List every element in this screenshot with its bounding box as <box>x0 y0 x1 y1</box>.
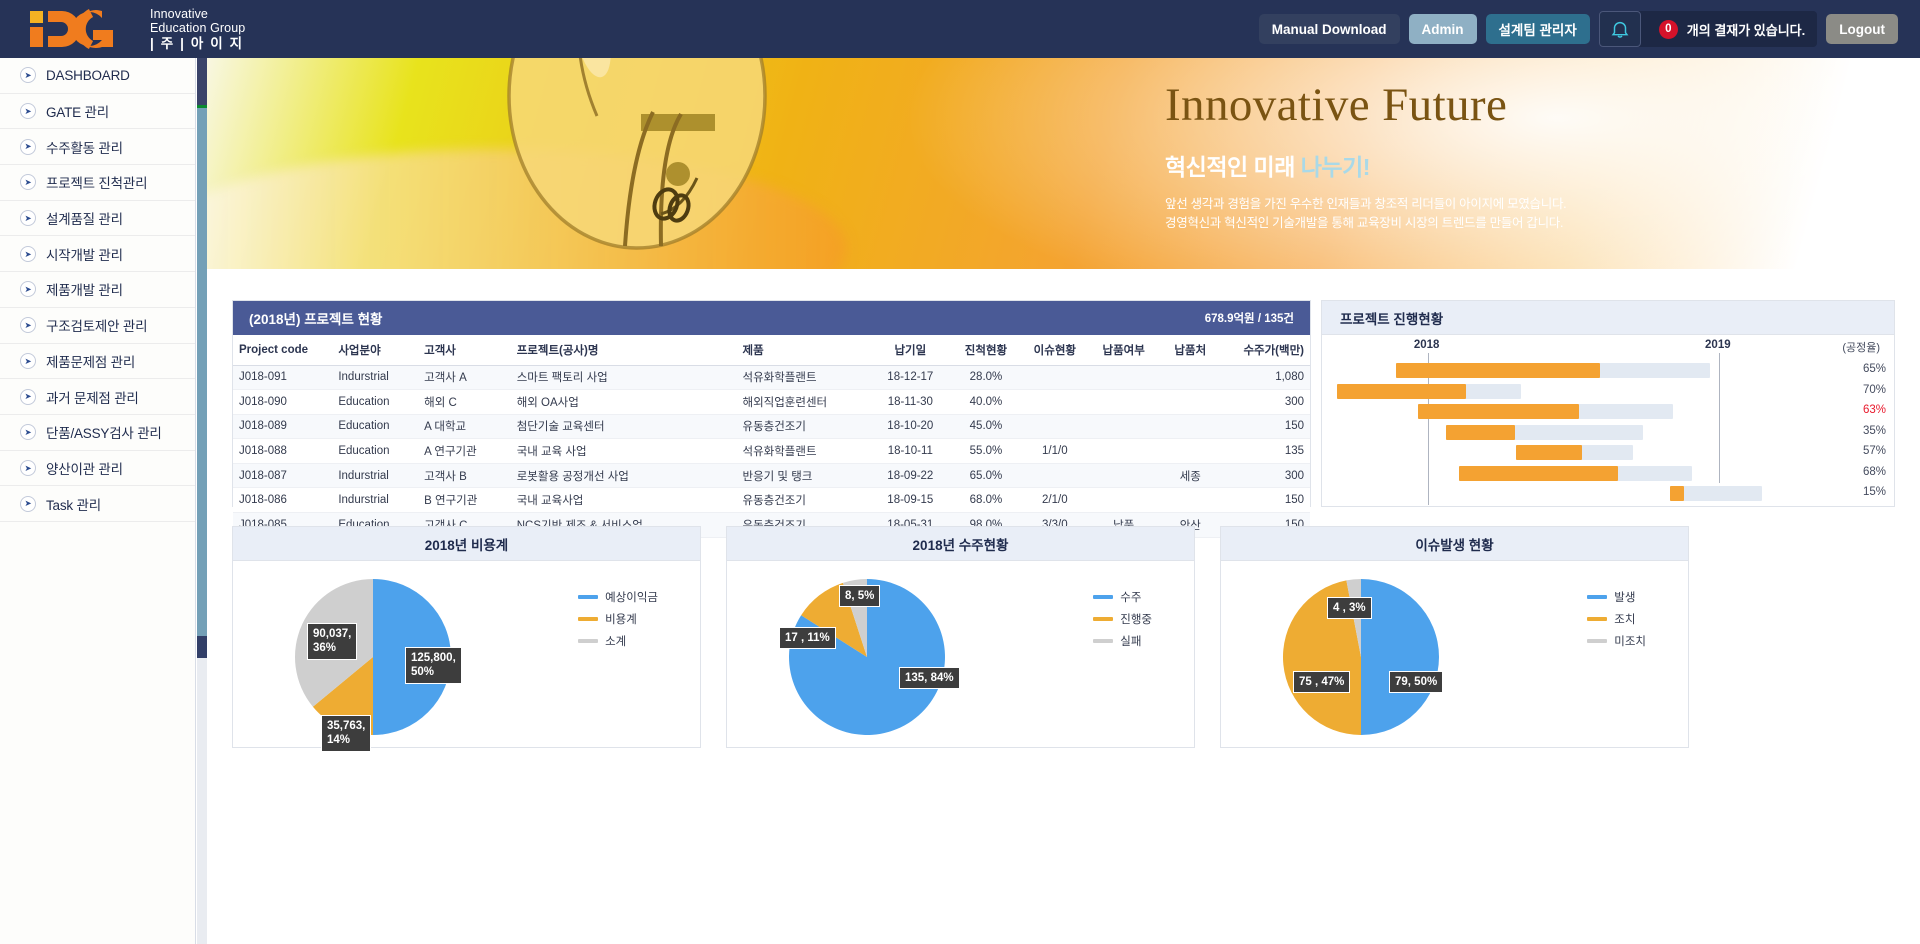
sidebar-item-label: 단품/ASSY검사 관리 <box>46 422 162 442</box>
gantt-panel-header: 프로젝트 진행현황 <box>1322 301 1894 335</box>
cell-issue <box>1021 365 1089 390</box>
legend-color-swatch <box>1587 617 1607 621</box>
gantt-row-fill <box>1446 425 1515 440</box>
project-column-header: 진척현황 <box>951 335 1021 365</box>
cell-issue <box>1021 390 1089 415</box>
gantt-row-track <box>1396 363 1710 378</box>
legend-color-swatch <box>578 595 598 599</box>
sidebar-item-label: 제품개발 관리 <box>46 279 123 299</box>
chevron-right-icon: ➤ <box>20 353 36 369</box>
gantt-row-percent: 68% <box>1840 466 1886 478</box>
cell-field: Education <box>332 414 418 439</box>
legend-color-swatch <box>1093 639 1113 643</box>
cell-progress: 68.0% <box>951 488 1021 513</box>
gantt-row-track <box>1516 445 1632 460</box>
sidebar-item-5[interactable]: ➤설계품질 관리 <box>0 201 195 237</box>
chevron-right-icon: ➤ <box>20 174 36 190</box>
cell-product: 반응기 및 탱크 <box>736 463 869 488</box>
cell-dest <box>1159 390 1222 415</box>
cell-due: 18-10-11 <box>870 439 951 464</box>
chevron-right-icon: ➤ <box>20 103 36 119</box>
gantt-axis-label-right: 2019 <box>1705 339 1731 351</box>
issues-pie-panel: 이슈발생 현황 79, 50%75 , 47%4 , 3%발생조치미조치 <box>1220 526 1689 748</box>
cell-delivered <box>1089 365 1159 390</box>
chevron-right-icon: ➤ <box>20 460 36 476</box>
cell-progress: 40.0% <box>951 390 1021 415</box>
chevron-right-icon: ➤ <box>20 246 36 262</box>
legend-color-swatch <box>1093 595 1113 599</box>
top-bar: Innovative Education Group | 주 | 아 이 지 M… <box>0 0 1920 58</box>
pie-legend: 발생조치미조치 <box>1587 589 1646 649</box>
sidebar-item-label: 프로젝트 진척관리 <box>46 172 147 192</box>
cell-dest <box>1159 414 1222 439</box>
cell-client: A 대학교 <box>418 414 511 439</box>
cell-price: 135 <box>1222 439 1310 464</box>
cell-product: 석유화학플랜트 <box>736 365 869 390</box>
cell-delivered <box>1089 488 1159 513</box>
gantt-axis-label-left: 2018 <box>1414 339 1440 351</box>
table-row[interactable]: J018-087Indurstrial고객사 B로봇활용 공정개선 사업반응기 … <box>233 463 1310 488</box>
sidebar-item-label: 시작개발 관리 <box>46 244 123 264</box>
chevron-right-icon: ➤ <box>20 424 36 440</box>
main-content: Innovative Future 혁신적인 미래 나누기! 앞선 생각과 경험… <box>207 58 1920 944</box>
banner-subheadline: 혁신적인 미래 나누기! <box>1165 148 1885 182</box>
project-panel-summary: 678.9억원 / 135건 <box>1205 310 1294 326</box>
sidebar-scrollbar[interactable] <box>197 58 207 944</box>
gantt-row-percent: 63% <box>1840 404 1886 416</box>
gantt-row-track <box>1446 425 1643 440</box>
chevron-right-icon: ➤ <box>20 281 36 297</box>
banner-body: 앞선 생각과 경험을 가진 우수한 인재들과 창조적 리더들이 아이지에 모였습… <box>1165 195 1885 234</box>
manual-download-button[interactable]: Manual Download <box>1259 14 1400 44</box>
pie-legend: 수주진행중실패 <box>1093 589 1152 649</box>
project-column-header: 납품처 <box>1159 335 1222 365</box>
sidebar-item-label: 양산이관 관리 <box>46 458 123 478</box>
gantt-row-fill <box>1337 384 1466 399</box>
cell-price: 1,080 <box>1222 365 1310 390</box>
chevron-right-icon: ➤ <box>20 139 36 155</box>
orders-pie-body: 135, 84%17 , 11%8, 5%수주진행중실패 <box>727 561 1194 748</box>
chevron-right-icon: ➤ <box>20 210 36 226</box>
banner-body-line-2: 경영혁신과 혁신적인 기술개발을 통해 교육장비 시장의 트렌드를 만들어 갑니… <box>1165 214 1885 233</box>
table-row[interactable]: J018-091Indurstrial고객사 A스마트 팩토리 사업석유화학플랜… <box>233 365 1310 390</box>
cell-due: 18-11-30 <box>870 390 951 415</box>
gantt-row-fill <box>1459 466 1617 481</box>
table-row[interactable]: J018-086IndurstrialB 연구기관국내 교육사업유동층건조기18… <box>233 488 1310 513</box>
legend-item[interactable]: 실패 <box>1093 633 1152 649</box>
gantt-row-percent: 70% <box>1840 384 1886 396</box>
cell-issue <box>1021 463 1089 488</box>
cell-client: 해외 C <box>418 390 511 415</box>
sidebar-item-label: 수주활동 관리 <box>46 137 123 157</box>
gantt-row-percent: 65% <box>1840 363 1886 375</box>
cell-name: 스마트 팩토리 사업 <box>511 365 737 390</box>
cell-price: 300 <box>1222 390 1310 415</box>
cell-field: Indurstrial <box>332 463 418 488</box>
notification-area: 0 개의 결재가 있습니다. <box>1599 11 1817 47</box>
sidebar-item-4[interactable]: ➤프로젝트 진척관리 <box>0 165 195 201</box>
project-panel-header: (2018년) 프로젝트 현황 678.9억원 / 135건 <box>233 301 1310 335</box>
notification-text: 개의 결재가 있습니다. <box>1687 20 1805 39</box>
sidebar-item-label: 설계품질 관리 <box>46 208 123 228</box>
legend-label: 실패 <box>1120 633 1141 649</box>
project-panel-title: (2018년) 프로젝트 현황 <box>249 308 382 328</box>
cell-field: Indurstrial <box>332 488 418 513</box>
legend-item[interactable]: 비용계 <box>578 611 658 627</box>
notification-count-badge: 0 <box>1659 20 1678 39</box>
cell-product: 유동층건조기 <box>736 414 869 439</box>
gantt-row[interactable]: 57% <box>1322 445 1894 460</box>
pie-data-label: 35,763, 14% <box>321 715 371 752</box>
legend-label: 조치 <box>1614 611 1635 627</box>
project-column-header: 수주가(백만) <box>1222 335 1310 365</box>
chevron-right-icon: ➤ <box>20 67 36 83</box>
cell-code: J018-090 <box>233 390 332 415</box>
cell-price: 150 <box>1222 414 1310 439</box>
banner-sub-accent: 나누기! <box>1301 154 1370 180</box>
cell-due: 18-09-22 <box>870 463 951 488</box>
legend-label: 발생 <box>1614 589 1635 605</box>
cell-field: Indurstrial <box>332 365 418 390</box>
hero-banner: Innovative Future 혁신적인 미래 나누기! 앞선 생각과 경험… <box>207 58 1920 269</box>
pie-data-label: 17 , 11% <box>779 627 836 649</box>
issues-pie-body: 79, 50%75 , 47%4 , 3%발생조치미조치 <box>1221 561 1688 748</box>
admin-button[interactable]: Admin <box>1409 14 1477 44</box>
cell-due: 18-12-17 <box>870 365 951 390</box>
brand-logo[interactable]: Innovative Education Group | 주 | 아 이 지 <box>28 7 245 51</box>
cell-client: 고객사 B <box>418 463 511 488</box>
legend-item[interactable]: 조치 <box>1587 611 1646 627</box>
sidebar-item-8[interactable]: ➤구조검토제안 관리 <box>0 308 195 344</box>
scrollbar-segment-top <box>197 58 207 105</box>
cell-name: 로봇활용 공정개선 사업 <box>511 463 737 488</box>
cell-due: 18-09-15 <box>870 488 951 513</box>
banner-headline: Innovative Future <box>1165 80 1885 132</box>
cell-code: J018-086 <box>233 488 332 513</box>
chevron-right-icon: ➤ <box>20 317 36 333</box>
gantt-row[interactable]: 15% <box>1322 486 1894 501</box>
gantt-row-fill <box>1516 445 1582 460</box>
idg-logo-icon <box>28 9 140 49</box>
legend-color-swatch <box>578 617 598 621</box>
logout-button[interactable]: Logout <box>1826 14 1898 44</box>
legend-color-swatch <box>1587 639 1607 643</box>
gantt-row[interactable]: 70% <box>1322 384 1894 399</box>
cell-progress: 55.0% <box>951 439 1021 464</box>
cell-price: 150 <box>1222 488 1310 513</box>
pie-data-label: 4 , 3% <box>1327 597 1372 619</box>
cell-name: 국내 교육 사업 <box>511 439 737 464</box>
top-bar-actions: Manual Download Admin 설계팀 관리자 0 개의 결재가 있… <box>1259 11 1898 47</box>
cell-product: 해외직업훈련센터 <box>736 390 869 415</box>
legend-label: 수주 <box>1120 589 1141 605</box>
cell-dest <box>1159 488 1222 513</box>
orders-pie-title: 2018년 수주현황 <box>727 527 1194 561</box>
pie-data-label: 135, 84% <box>899 667 960 689</box>
gantt-axis-label-rate: (공정율) <box>1842 339 1880 355</box>
orders-pie-panel: 2018년 수주현황 135, 84%17 , 11%8, 5%수주진행중실패 <box>726 526 1195 748</box>
cell-delivered <box>1089 439 1159 464</box>
pie-data-label: 8, 5% <box>839 585 880 607</box>
sidebar-item-label: Task 관리 <box>46 494 101 514</box>
project-column-header: 고객사 <box>418 335 511 365</box>
cell-delivered <box>1089 390 1159 415</box>
gantt-row[interactable]: 63% <box>1322 404 1894 419</box>
sidebar-item-10[interactable]: ➤과거 문제점 관리 <box>0 379 195 415</box>
project-column-header: 프로젝트(공사)명 <box>511 335 737 365</box>
legend-label: 미조치 <box>1614 633 1646 649</box>
design-team-admin-button[interactable]: 설계팀 관리자 <box>1486 14 1590 44</box>
scrollbar-track[interactable] <box>197 108 207 636</box>
cell-issue: 1/1/0 <box>1021 439 1089 464</box>
table-row[interactable]: J018-090Education해외 C해외 OA사업해외직업훈련센터18-1… <box>233 390 1310 415</box>
chevron-right-icon: ➤ <box>20 496 36 512</box>
sidebar-item-13[interactable]: ➤Task 관리 <box>0 486 195 522</box>
sidebar-item-label: 제품문제점 관리 <box>46 351 135 371</box>
table-row[interactable]: J018-088EducationA 연구기관국내 교육 사업석유화학플랜트18… <box>233 439 1310 464</box>
cell-dest <box>1159 439 1222 464</box>
gantt-row-track <box>1670 486 1762 501</box>
gantt-row-fill <box>1418 404 1579 419</box>
banner-sub-white: 혁신적인 미래 <box>1165 154 1301 180</box>
cell-name: 국내 교육사업 <box>511 488 737 513</box>
sidebar-item-3[interactable]: ➤수주활동 관리 <box>0 129 195 165</box>
legend-item[interactable]: 진행중 <box>1093 611 1152 627</box>
legend-color-swatch <box>1587 595 1607 599</box>
pie-slice[interactable] <box>1361 579 1439 735</box>
sidebar-item-2[interactable]: ➤GATE 관리 <box>0 94 195 130</box>
project-column-header: 납기일 <box>870 335 951 365</box>
legend-label: 비용계 <box>605 611 637 627</box>
cell-client: 고객사 A <box>418 365 511 390</box>
legend-label: 소계 <box>605 633 626 649</box>
bell-icon[interactable] <box>1599 11 1641 47</box>
cell-client: B 연구기관 <box>418 488 511 513</box>
project-column-header: Project code <box>233 335 332 365</box>
cell-issue <box>1021 414 1089 439</box>
sidebar-item-9[interactable]: ➤제품문제점 관리 <box>0 344 195 380</box>
sidebar-item-6[interactable]: ➤시작개발 관리 <box>0 236 195 272</box>
pie-data-label: 75 , 47% <box>1293 671 1350 693</box>
gantt-row-percent: 15% <box>1840 486 1886 498</box>
sidebar-item-label: DASHBOARD <box>46 68 130 83</box>
pie-data-label: 90,037, 36% <box>307 623 357 660</box>
gantt-row[interactable]: 35% <box>1322 425 1894 440</box>
cell-issue: 2/1/0 <box>1021 488 1089 513</box>
scrollbar-thumb[interactable] <box>197 636 207 658</box>
legend-item[interactable]: 수주 <box>1093 589 1152 605</box>
project-column-header: 사업분야 <box>332 335 418 365</box>
banner-body-line-1: 앞선 생각과 경험을 가진 우수한 인재들과 창조적 리더들이 아이지에 모였습… <box>1165 195 1885 214</box>
cell-dest: 세종 <box>1159 463 1222 488</box>
pie-data-label: 125,800, 50% <box>405 647 462 684</box>
legend-item[interactable]: 예상이익금 <box>578 589 658 605</box>
gantt-row[interactable]: 65% <box>1322 363 1894 378</box>
legend-label: 진행중 <box>1120 611 1152 627</box>
legend-item[interactable]: 발생 <box>1587 589 1646 605</box>
sidebar-item-label: 과거 문제점 관리 <box>46 387 139 407</box>
cell-field: Education <box>332 390 418 415</box>
gantt-row-fill <box>1670 486 1684 501</box>
sidebar-item-12[interactable]: ➤양산이관 관리 <box>0 451 195 487</box>
cell-code: J018-089 <box>233 414 332 439</box>
cell-price: 300 <box>1222 463 1310 488</box>
lightbulb-illustration-icon <box>465 58 805 269</box>
cost-pie-panel: 2018년 비용계 125,800, 50%35,763, 14%90,037,… <box>232 526 701 748</box>
cell-code: J018-088 <box>233 439 332 464</box>
gantt-row-percent: 35% <box>1840 425 1886 437</box>
cost-pie-body: 125,800, 50%35,763, 14%90,037, 36%예상이익금비… <box>233 561 700 748</box>
gantt-axis: 20182019(공정율) <box>1322 335 1894 359</box>
cell-delivered <box>1089 414 1159 439</box>
project-status-panel: (2018년) 프로젝트 현황 678.9억원 / 135건 Project c… <box>232 300 1311 507</box>
cell-progress: 65.0% <box>951 463 1021 488</box>
cell-product: 유동층건조기 <box>736 488 869 513</box>
cell-due: 18-10-20 <box>870 414 951 439</box>
gantt-row-track <box>1418 404 1673 419</box>
project-column-header: 제품 <box>736 335 869 365</box>
table-row[interactable]: J018-089EducationA 대학교첨단기술 교육센터유동층건조기18-… <box>233 414 1310 439</box>
gantt-row-track <box>1459 466 1692 481</box>
sidebar-item-7[interactable]: ➤제품개발 관리 <box>0 272 195 308</box>
gantt-row-track <box>1337 384 1521 399</box>
project-table-header-row: Project code사업분야고객사프로젝트(공사)명제품납기일진척현황이슈현… <box>233 335 1310 365</box>
cost-pie-title: 2018년 비용계 <box>233 527 700 561</box>
brand-line-2: Education Group <box>150 21 245 35</box>
gantt-row[interactable]: 68% <box>1322 466 1894 481</box>
cell-field: Education <box>332 439 418 464</box>
pie-data-label: 79, 50% <box>1389 671 1443 693</box>
sidebar-item-1[interactable]: ➤DASHBOARD <box>0 58 195 94</box>
brand-line-1: Innovative <box>150 7 245 21</box>
project-column-header: 납품여부 <box>1089 335 1159 365</box>
cell-product: 석유화학플랜트 <box>736 439 869 464</box>
cell-progress: 28.0% <box>951 365 1021 390</box>
issues-pie-title: 이슈발생 현황 <box>1221 527 1688 561</box>
pie-legend: 예상이익금비용계소계 <box>578 589 658 649</box>
cell-code: J018-087 <box>233 463 332 488</box>
project-table: Project code사업분야고객사프로젝트(공사)명제품납기일진척현황이슈현… <box>233 335 1310 538</box>
legend-color-swatch <box>578 639 598 643</box>
gantt-row-fill <box>1396 363 1600 378</box>
sidebar-item-11[interactable]: ➤단품/ASSY검사 관리 <box>0 415 195 451</box>
gantt-row-percent: 57% <box>1840 445 1886 457</box>
cell-code: J018-091 <box>233 365 332 390</box>
cell-progress: 45.0% <box>951 414 1021 439</box>
gantt-chart: 20182019(공정율)65%70%63%35%57%68%15% <box>1322 335 1894 507</box>
legend-label: 예상이익금 <box>605 589 658 605</box>
cell-delivered <box>1089 463 1159 488</box>
cell-dest <box>1159 365 1222 390</box>
project-progress-panel: 프로젝트 진행현황 20182019(공정율)65%70%63%35%57%68… <box>1321 300 1895 507</box>
legend-item[interactable]: 소계 <box>578 633 658 649</box>
sidebar-item-label: GATE 관리 <box>46 101 109 121</box>
brand-line-3: | 주 | 아 이 지 <box>150 36 245 51</box>
banner-text-block: Innovative Future 혁신적인 미래 나누기! 앞선 생각과 경험… <box>1165 80 1885 233</box>
chevron-right-icon: ➤ <box>20 389 36 405</box>
project-column-header: 이슈현황 <box>1021 335 1089 365</box>
legend-item[interactable]: 미조치 <box>1587 633 1646 649</box>
cell-client: A 연구기관 <box>418 439 511 464</box>
cell-name: 해외 OA사업 <box>511 390 737 415</box>
cell-name: 첨단기술 교육센터 <box>511 414 737 439</box>
sidebar-navigation: ➤DASHBOARD➤GATE 관리➤수주활동 관리➤프로젝트 진척관리➤설계품… <box>0 58 196 944</box>
sidebar-item-label: 구조검토제안 관리 <box>46 315 147 335</box>
legend-color-swatch <box>1093 617 1113 621</box>
